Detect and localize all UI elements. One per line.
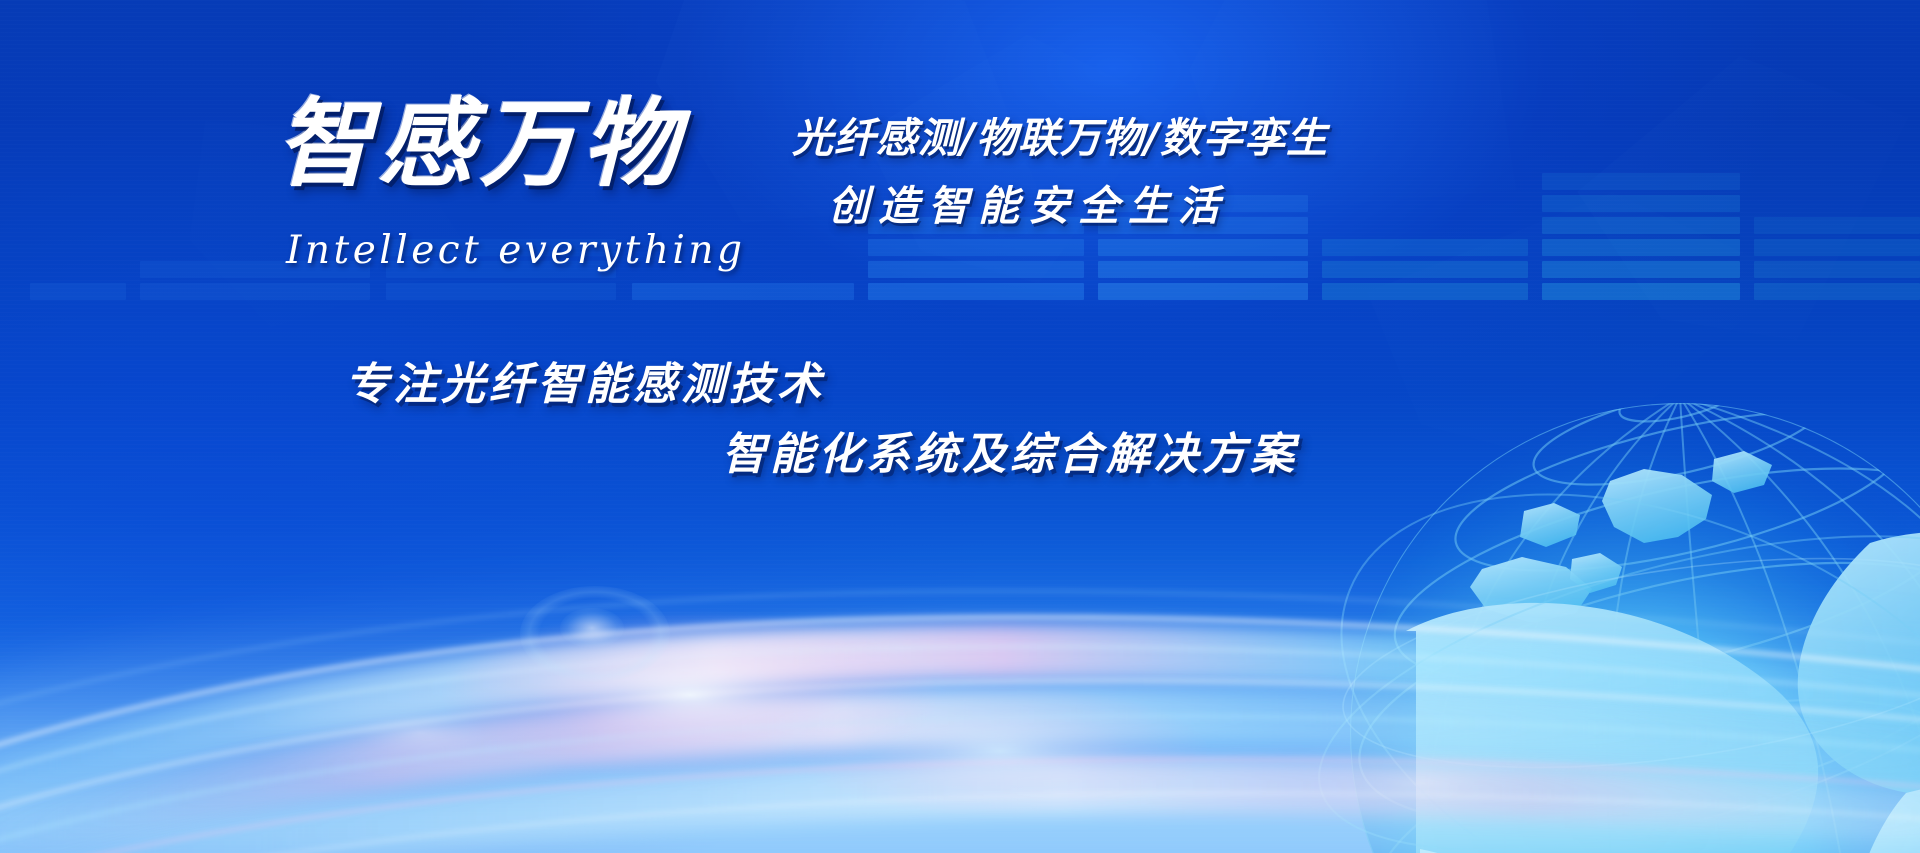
tagline-line-1: 专注光纤智能感测技术 [345, 348, 825, 412]
banner-text-layer: 智感万物 Intellect everything 光纤感测/物联万物/数字孪生… [0, 0, 1920, 853]
promotional-banner: 智感万物 Intellect everything 光纤感测/物联万物/数字孪生… [0, 0, 1920, 853]
slogan-line-1: 光纤感测/物联万物/数字孪生 [792, 104, 1328, 164]
headline-chinese: 智感万物 [276, 96, 684, 192]
headline-english: Intellect everything [286, 228, 745, 273]
slogan-line-2: 创造智能安全生活 [828, 172, 1228, 232]
tagline-line-2: 智能化系统及综合解决方案 [722, 418, 1298, 482]
